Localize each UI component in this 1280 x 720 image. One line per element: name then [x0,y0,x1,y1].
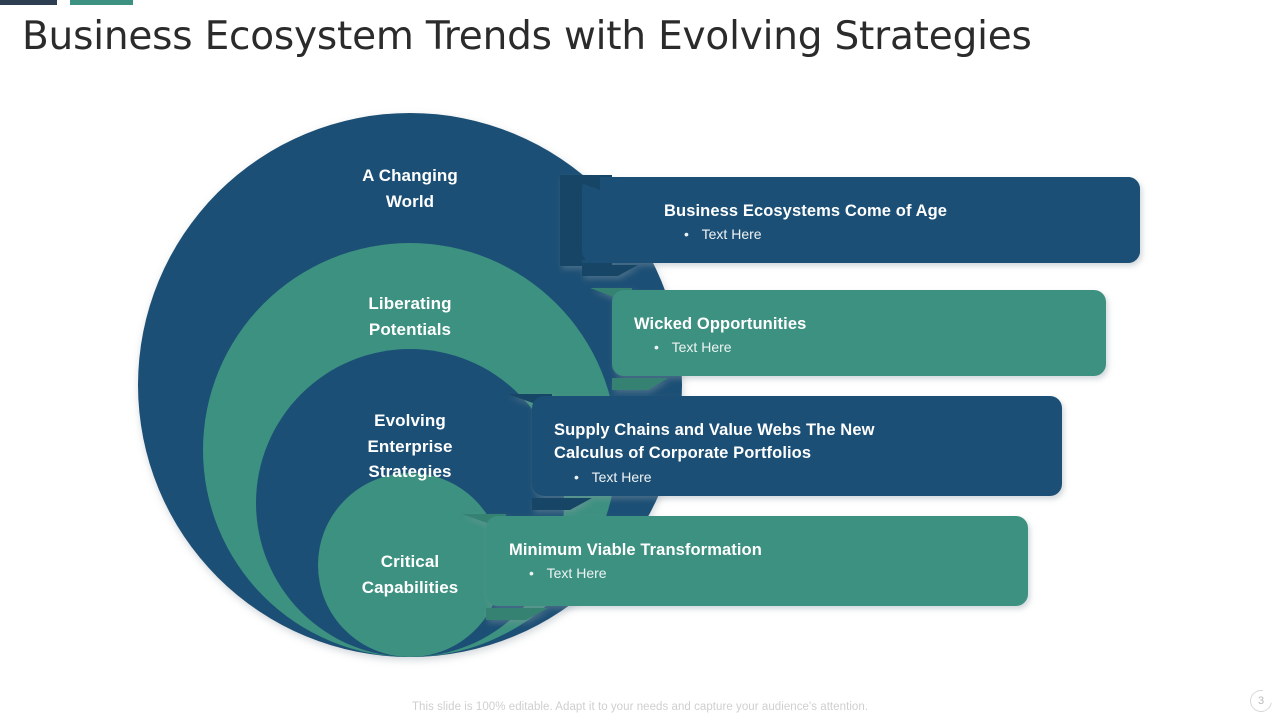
accent-bar-teal [70,0,133,5]
callout-2-body [612,290,1106,376]
concentric-circle-diagram: A Changing World Liberating Potentials E… [0,60,1280,680]
slide-number-badge: 3 [1250,690,1272,712]
accent-bar-navy [0,0,57,5]
editable-note: This slide is 100% editable. Adapt it to… [0,701,1280,713]
callout-4-shape[interactable] [462,514,1028,620]
callout-3-body [532,396,1062,496]
slide-number: 3 [1250,690,1272,712]
callout-1-shape[interactable] [560,175,1140,276]
diagram-svg [0,60,1280,680]
slide-canvas: Business Ecosystem Trends with Evolving … [0,0,1280,720]
page-title: Business Ecosystem Trends with Evolving … [22,14,1122,59]
ring-4-critical-capabilities[interactable] [318,473,502,657]
callout-2-shape[interactable] [590,288,1106,390]
callout-4-body [486,516,1028,606]
callout-1-body-main [582,177,1140,263]
callout-3-shape[interactable] [508,394,1062,510]
